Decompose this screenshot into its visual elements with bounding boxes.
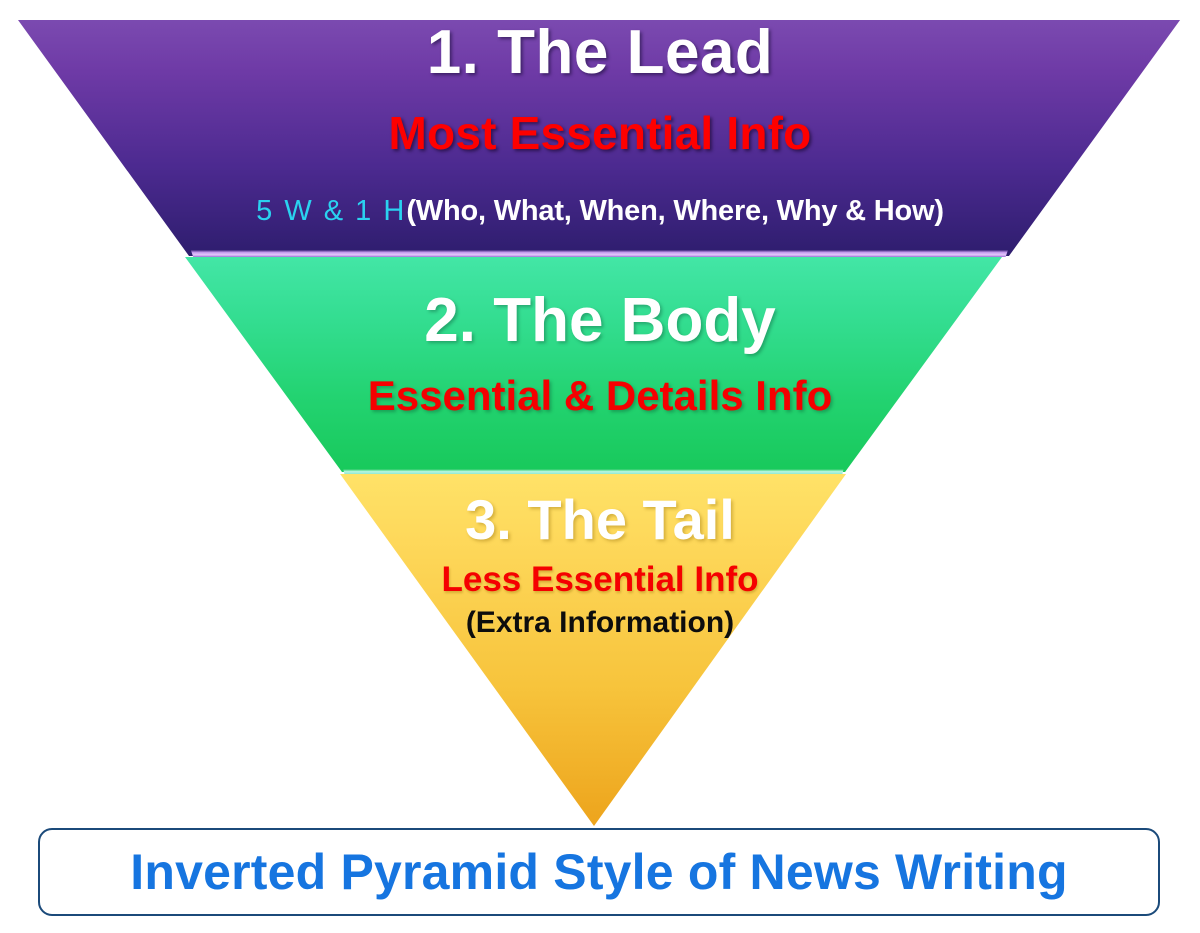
- tail-note: (Extra Information): [0, 608, 1200, 638]
- diagram-canvas: 1. The Lead Most Essential Info 5 W & 1 …: [0, 0, 1200, 933]
- divider-body-tail: [0, 469, 1200, 474]
- inverted-pyramid-graphic: 1. The Lead Most Essential Info 5 W & 1 …: [0, 0, 1200, 840]
- caption-box: Inverted Pyramid Style of News Writing: [38, 828, 1160, 916]
- body-subheading: Essential & Details Info: [0, 375, 1200, 417]
- lead-note-rest: (Who, What, When, Where, Why & How): [406, 195, 944, 227]
- lead-heading: 1. The Lead: [0, 22, 1200, 84]
- divider-lead-body: [0, 250, 1200, 257]
- lead-subheading: Most Essential Info: [0, 110, 1200, 156]
- body-heading: 2. The Body: [0, 290, 1200, 352]
- lead-note-highlight: 5 W & 1 H: [256, 195, 406, 227]
- tail-heading: 3. The Tail: [0, 492, 1200, 548]
- caption-text: Inverted Pyramid Style of News Writing: [130, 843, 1067, 901]
- lead-note: 5 W & 1 H(Who, What, When, Where, Why & …: [0, 197, 1200, 226]
- tail-subheading: Less Essential Info: [0, 562, 1200, 597]
